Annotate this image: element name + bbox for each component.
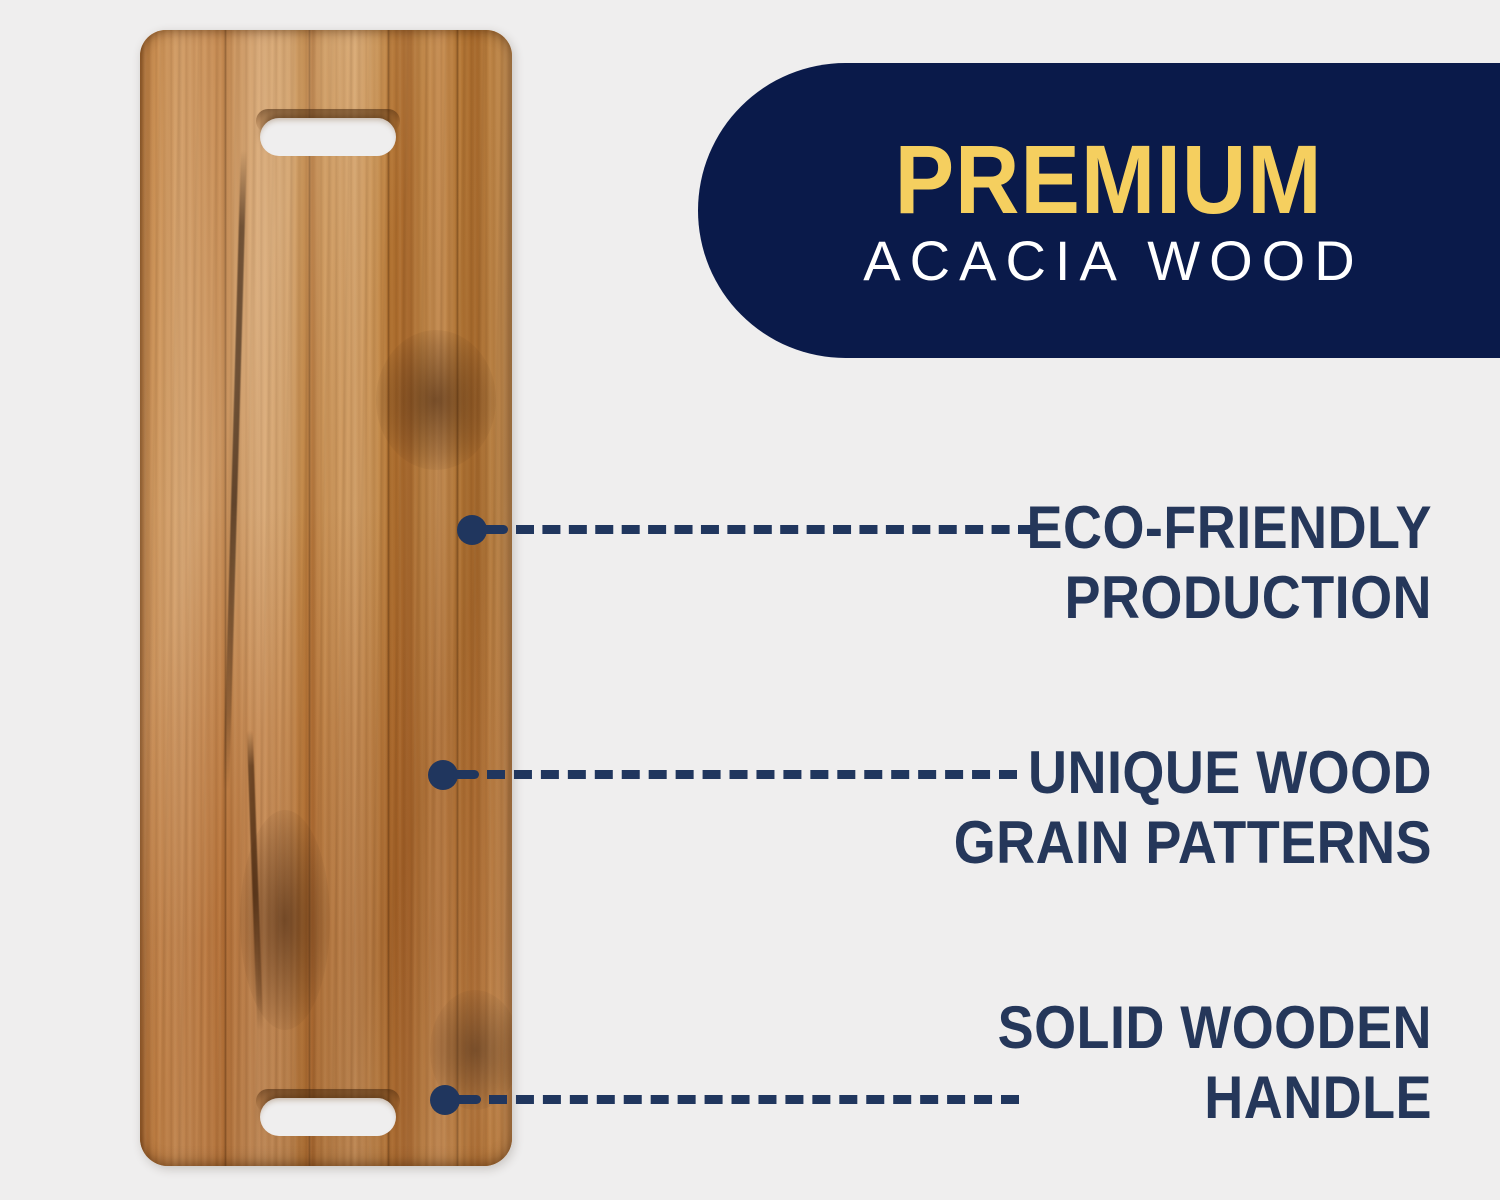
callout-label-unique-wood-grain-patterns: UNIQUE WOOD GRAIN PATTERNS — [874, 738, 1432, 878]
handle-cutout-top — [260, 118, 396, 156]
banner-title: PREMIUM — [895, 132, 1323, 227]
callout-label-eco-friendly-production: ECO-FRIENDLY PRODUCTION — [892, 493, 1432, 633]
callout-label-solid-wooden-handle: SOLID WOODEN HANDLE — [874, 993, 1432, 1133]
callout-label-line-1: ECO-FRIENDLY — [892, 493, 1432, 563]
callout-stub-eco-friendly-production — [480, 525, 508, 534]
callout-label-line-2: GRAIN PATTERNS — [874, 808, 1432, 878]
callout-label-line-2: HANDLE — [874, 1063, 1432, 1133]
infographic-canvas: PREMIUM ACACIA WOOD ECO-FRIENDLY PRODUCT… — [0, 0, 1500, 1200]
product-image-cutting-board — [140, 30, 512, 1166]
premium-banner: PREMIUM ACACIA WOOD — [698, 63, 1500, 358]
callout-label-line-1: UNIQUE WOOD — [874, 738, 1432, 808]
handle-cutout-bottom — [260, 1098, 396, 1136]
board-edge-shading — [140, 30, 512, 1166]
callout-label-line-1: SOLID WOODEN — [874, 993, 1432, 1063]
callout-label-line-2: PRODUCTION — [892, 563, 1432, 633]
callout-stub-solid-wooden-handle — [453, 1095, 481, 1104]
banner-subtitle: ACACIA WOOD — [854, 233, 1363, 289]
callout-stub-unique-wood-grain-patterns — [451, 770, 479, 779]
